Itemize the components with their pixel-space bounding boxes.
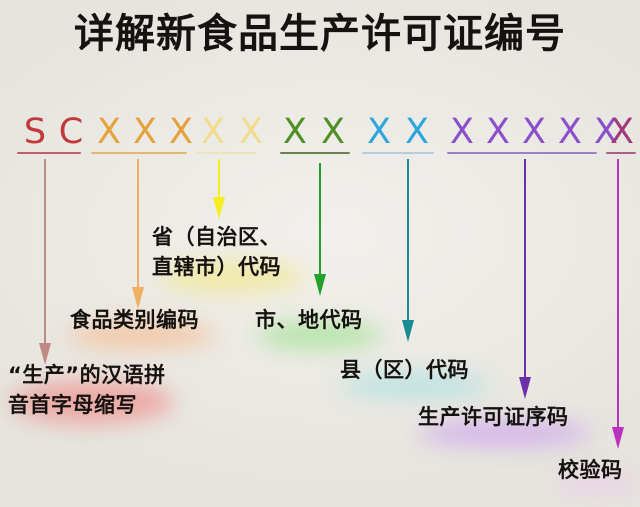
arrow-province-code-head (213, 197, 225, 219)
code-char-province-code: X (198, 112, 228, 152)
code-char-province-code: X (236, 112, 266, 152)
underline-province-code (196, 152, 256, 154)
code-char-license-serial: X (447, 112, 477, 152)
arrow-county-code (401, 159, 415, 342)
arrow-city-code-head (314, 274, 326, 296)
arrow-province-code-shaft (218, 159, 220, 197)
arrow-food-category (131, 159, 145, 309)
label-province-code-line: 省（自治区、 (152, 222, 281, 252)
arrow-sc-prefix (38, 159, 52, 365)
arrow-license-serial-head (519, 377, 531, 399)
page-title: 详解新食品生产许可证编号 (0, 6, 640, 62)
code-char-county-code: X (364, 112, 394, 152)
label-province-code: 省（自治区、直辖市）代码 (152, 222, 281, 282)
underline-sc-prefix (17, 152, 81, 154)
label-license-serial-line: 生产许可证序码 (418, 402, 569, 432)
underline-county-code (362, 152, 434, 154)
code-char-check-digit: X (607, 112, 637, 152)
code-char-city-code: X (280, 112, 310, 152)
code-char-food-category: X (130, 112, 160, 152)
code-char-county-code: X (402, 112, 432, 152)
arrow-county-code-head (402, 320, 414, 342)
label-county-code-line: 县（区）代码 (340, 355, 469, 385)
label-food-category: 食品类别编码 (70, 305, 199, 335)
code-char-sc-prefix: C (56, 112, 86, 152)
arrow-city-code-shaft (319, 163, 321, 274)
arrow-county-code-shaft (407, 159, 409, 320)
arrow-license-serial (518, 159, 532, 399)
code-char-license-serial: X (483, 112, 513, 152)
arrow-city-code (313, 163, 327, 296)
label-check-digit-line: 校验码 (558, 455, 623, 485)
code-char-city-code: X (318, 112, 348, 152)
code-char-license-serial: X (555, 112, 585, 152)
code-char-license-serial: X (519, 112, 549, 152)
underline-check-digit (606, 152, 636, 154)
label-sc-prefix-line: 音首字母缩写 (8, 390, 166, 420)
code-char-food-category: X (94, 112, 124, 152)
arrow-license-serial-shaft (524, 159, 526, 377)
underline-city-code (280, 152, 350, 154)
label-province-code-line: 直辖市）代码 (152, 252, 281, 282)
underline-license-serial (447, 152, 597, 154)
underline-food-category (91, 152, 187, 154)
label-city-code-line: 市、地代码 (255, 305, 363, 335)
label-sc-prefix: “生产”的汉语拼音首字母缩写 (8, 360, 166, 420)
label-license-serial: 生产许可证序码 (418, 402, 569, 432)
label-food-category-line: 食品类别编码 (70, 305, 199, 335)
label-county-code: 县（区）代码 (340, 355, 469, 385)
arrow-food-category-shaft (137, 159, 139, 287)
label-check-digit: 校验码 (558, 455, 623, 485)
infographic-canvas: 详解新食品生产许可证编号 SCXXXXXXXXXXXXXXX 省（自治区、直辖市… (0, 0, 640, 507)
arrow-check-digit-head (612, 427, 624, 449)
arrow-province-code (212, 159, 226, 219)
arrow-sc-prefix-shaft (44, 159, 46, 343)
code-char-food-category: X (166, 112, 196, 152)
arrow-check-digit (611, 159, 625, 449)
code-char-sc-prefix: S (20, 112, 50, 152)
label-city-code: 市、地代码 (255, 305, 363, 335)
label-sc-prefix-line: “生产”的汉语拼 (8, 360, 166, 390)
arrow-check-digit-shaft (617, 159, 619, 427)
